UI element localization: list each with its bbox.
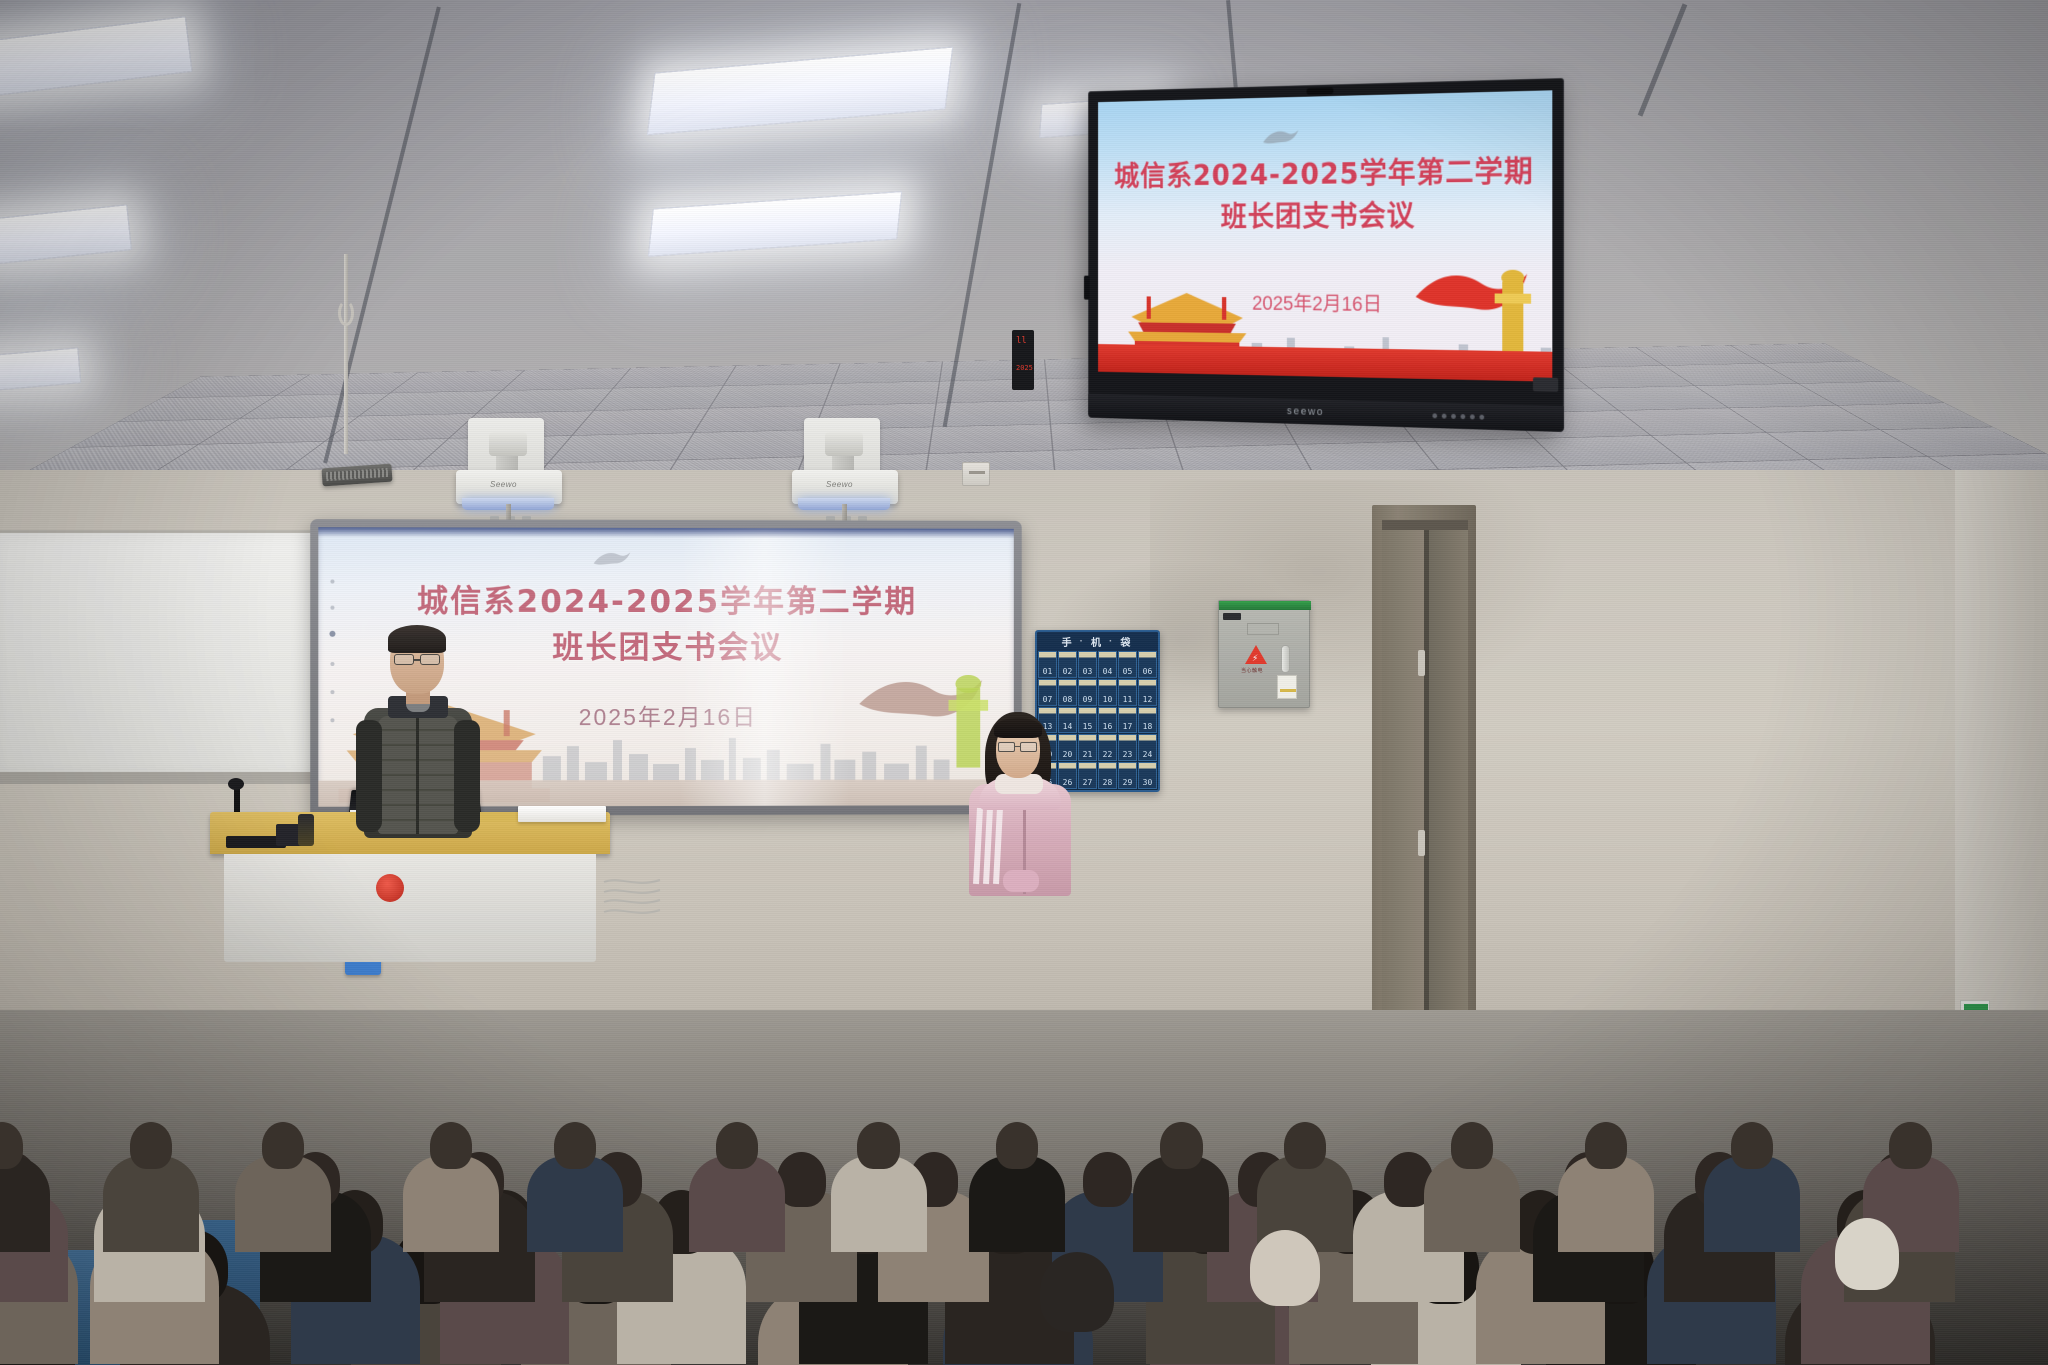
- audience-member: [831, 1156, 927, 1252]
- projector-head: [825, 432, 863, 456]
- audience-head: [1040, 1252, 1114, 1332]
- phone-pocket[interactable]: 24: [1138, 734, 1157, 761]
- screen-sidebar-icons: [328, 567, 336, 758]
- projector-head: [489, 432, 527, 456]
- audience-head: [1835, 1218, 1899, 1290]
- phone-pocket[interactable]: 03: [1078, 651, 1097, 678]
- phone-pocket[interactable]: 29: [1118, 762, 1137, 789]
- glasses-bridge: [414, 659, 420, 661]
- audience-member: [1558, 1156, 1654, 1252]
- door-handle-upper[interactable]: [1418, 650, 1425, 676]
- audience-head: [996, 1122, 1038, 1169]
- high-voltage-glyph: ⚡: [1252, 653, 1258, 664]
- phone-board-header-char: 机: [1091, 634, 1104, 649]
- audience-head: [1250, 1230, 1320, 1306]
- audience-head: [716, 1122, 758, 1169]
- audience-member: [0, 1156, 50, 1252]
- microphone-head: [228, 778, 244, 790]
- projector-brand-label: Seewo: [826, 480, 853, 489]
- dove-icon: [1260, 126, 1301, 152]
- tv-corner-badge: [1533, 377, 1558, 392]
- audience-member: [1704, 1156, 1800, 1252]
- ceiling: /*tiles injected*/: [0, 0, 2048, 545]
- phone-pocket[interactable]: 22: [1098, 734, 1117, 761]
- led-clock: ll 2025: [1012, 330, 1034, 390]
- audience-member: [403, 1156, 499, 1252]
- audience-head: [857, 1122, 899, 1169]
- phone-pocket[interactable]: 10: [1098, 679, 1117, 706]
- audience-head: [1083, 1152, 1132, 1207]
- projector-hotspot: [680, 528, 849, 806]
- ceiling-tile: [594, 386, 724, 411]
- projector-brand-label: Seewo: [490, 480, 517, 489]
- cabinet-warning-tag: [1277, 675, 1297, 699]
- audience-member: [527, 1156, 623, 1252]
- audience-member: [1133, 1156, 1229, 1252]
- ceiling-tile: [723, 364, 840, 386]
- audience-head: [430, 1122, 472, 1169]
- projection-title-line1: 城信系2024-2025学年第二学期: [318, 575, 1014, 621]
- audience-head: [1585, 1122, 1627, 1169]
- tv-title-line1: 城信系2024-2025学年第二学期: [1098, 146, 1552, 194]
- phone-board-dot: ·: [1080, 636, 1086, 647]
- audience-member: [235, 1156, 331, 1252]
- phone-pocket[interactable]: 04: [1098, 651, 1117, 678]
- ceiling-tile: [1296, 441, 1438, 473]
- ceiling-tile: [832, 361, 943, 383]
- phone-pocket[interactable]: 08: [1058, 679, 1077, 706]
- whiteboard: [0, 530, 324, 780]
- phone-pocket[interactable]: 06: [1138, 651, 1157, 678]
- phone-board-dot: ·: [1109, 636, 1115, 647]
- smart-tv-panel[interactable]: 城信系2024-2025学年第二学期 班长团支书会议 2025年2月16日: [1088, 78, 1564, 418]
- tv-side-button[interactable]: [1084, 276, 1090, 300]
- phone-pocket[interactable]: 27: [1078, 762, 1097, 789]
- phone-pocket[interactable]: 02: [1058, 651, 1077, 678]
- phone-pocket[interactable]: 28: [1098, 762, 1117, 789]
- audience-head: [1284, 1122, 1326, 1169]
- phone-pocket[interactable]: 09: [1078, 679, 1097, 706]
- phone-pocket[interactable]: 12: [1138, 679, 1157, 706]
- classroom-photo: /*tiles injected*/ 城信系2024-2025学年第二学期 班长…: [0, 0, 2048, 1365]
- audience-member: [689, 1156, 785, 1252]
- presenter: [358, 628, 478, 828]
- ceiling-tile: [823, 381, 939, 405]
- audience-head: [1160, 1122, 1202, 1169]
- dove-icon: [590, 548, 634, 572]
- audience-head: [554, 1122, 596, 1169]
- door-transom: [1382, 520, 1468, 530]
- wall-socket[interactable]: [962, 462, 990, 486]
- tv-screen: 城信系2024-2025学年第二学期 班长团支书会议 2025年2月16日: [1098, 90, 1552, 381]
- audience-member: [1424, 1156, 1520, 1252]
- ceiling-tile: [613, 366, 736, 389]
- glasses-bridge: [1015, 746, 1020, 747]
- audience-head: [1731, 1122, 1773, 1169]
- phone-pocket[interactable]: 17: [1118, 707, 1137, 734]
- ceiling-tile: [929, 424, 1053, 453]
- ceiling-tile: [709, 384, 832, 409]
- hanging-hook-icon: [338, 300, 354, 326]
- tv-brand-label: seewo: [1287, 405, 1324, 418]
- phone-pocket[interactable]: 05: [1118, 651, 1137, 678]
- audience-head: [1889, 1122, 1931, 1169]
- ceiling-hanging-rod: [344, 254, 348, 454]
- phone-board-header: 手·机·袋: [1037, 632, 1158, 650]
- ceiling-tile: [572, 408, 709, 435]
- phone-pocket[interactable]: 15: [1078, 707, 1097, 734]
- cabinet-brand-chip: [1223, 613, 1241, 620]
- ceiling-tile: [1050, 421, 1175, 450]
- presenter-hair: [388, 625, 446, 653]
- phone-pocket[interactable]: 07: [1038, 679, 1057, 706]
- glasses-icon: [394, 654, 414, 665]
- phone-pocket[interactable]: 01: [1038, 651, 1057, 678]
- phone-pocket[interactable]: 21: [1078, 734, 1097, 761]
- audience-group: [0, 800, 2048, 1365]
- indicator-dots-icon: [1432, 413, 1484, 419]
- phone-pocket[interactable]: 23: [1118, 734, 1137, 761]
- audience-head: [130, 1122, 172, 1169]
- audience-head: [0, 1122, 23, 1169]
- screen-top-glow: [318, 527, 1014, 539]
- phone-pocket[interactable]: 18: [1138, 707, 1157, 734]
- glasses-icon: [998, 742, 1015, 752]
- camera-icon: [1306, 87, 1333, 94]
- high-voltage-text: 当心触电: [1241, 667, 1263, 674]
- tv-title-line2: 班长团支书会议: [1098, 190, 1552, 235]
- led-clock-line2: 2025: [1016, 364, 1033, 372]
- whiteboard-tray: [0, 772, 324, 784]
- led-clock-line1: ll: [1016, 336, 1027, 346]
- phone-board-header-char: 手: [1062, 634, 1075, 649]
- phone-pocket[interactable]: 11: [1118, 679, 1137, 706]
- attendee-fringe: [994, 718, 1042, 738]
- audience-member: [103, 1156, 199, 1252]
- cabinet-header-band: [1219, 601, 1311, 610]
- electrical-cabinet[interactable]: ⚡ 当心触电: [1218, 600, 1310, 708]
- cabinet-nameplate: [1247, 623, 1279, 635]
- audience-head: [262, 1122, 304, 1169]
- phone-board-header-char: 袋: [1120, 634, 1133, 649]
- cabinet-handle[interactable]: [1281, 645, 1290, 673]
- phone-pocket[interactable]: 16: [1098, 707, 1117, 734]
- glasses-lens-right: [1020, 742, 1037, 752]
- audience-member: [969, 1156, 1065, 1252]
- audience-head: [1451, 1122, 1493, 1169]
- glasses-lens-right: [420, 654, 440, 665]
- ceiling-tile: [548, 433, 694, 463]
- phone-pocket[interactable]: 30: [1138, 762, 1157, 789]
